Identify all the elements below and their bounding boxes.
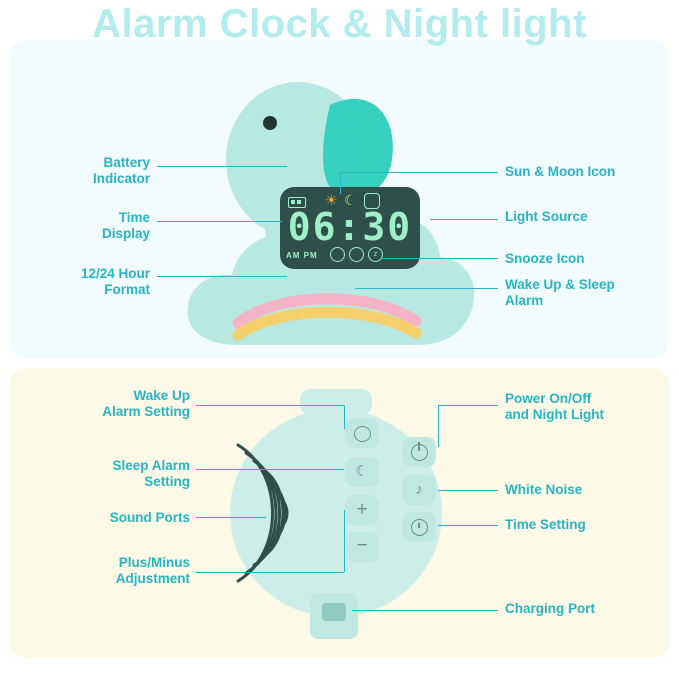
time-value: 06:30 [286,205,414,249]
button-plus[interactable]: + [345,495,379,525]
label-line: Adjustment [60,571,190,587]
button-alarm[interactable] [345,418,379,448]
button-clock[interactable] [402,512,436,542]
leader-sun-moon-icon-drop [340,172,341,194]
label-line: White Noise [505,482,670,498]
label-line: Indicator [40,171,150,187]
leader-plus-minus-adjustment [196,572,344,573]
label-power-night-light: Power On/Off and Night Light [505,391,670,423]
button-music[interactable]: ♪ [402,475,436,505]
label-line: Charging Port [505,601,670,617]
clock-display: ☀ ☾ 06:30 AM PM z [280,187,420,269]
minus-icon: − [345,532,379,562]
leader-battery-indicator [157,166,287,167]
leader-wake-up-alarm-setting [196,405,344,406]
label-hour-format: 12/24 Hour Format [20,266,150,298]
label-line: Power On/Off [505,391,670,407]
label-line: Wake Up & Sleep [505,277,665,293]
leader-sleep-alarm-setting [196,469,344,470]
label-wake-up-alarm-setting: Wake Up Alarm Setting [60,388,190,420]
plus-icon: + [345,495,379,525]
label-line: Light Source [505,209,665,225]
button-minus[interactable]: − [345,532,379,562]
label-line: Setting [60,474,190,490]
label-line: Display [40,226,150,242]
leader-hour-format [157,276,287,277]
label-line: Wake Up [60,388,190,404]
leader-sun-moon-icon [340,172,498,173]
label-line: Sleep Alarm [60,458,190,474]
music-note-icon: ♪ [402,475,436,505]
leader-wake-up-alarm-setting-drop [344,405,345,429]
leader-power-night-light-drop [438,405,439,447]
label-light-source: Light Source [505,209,665,225]
power-icon-stem [418,442,420,451]
moon-small-icon [349,247,364,262]
label-line: Battery [40,155,150,171]
leader-plus-minus-adjustment-rise [344,510,345,572]
leader-snooze-icon [380,258,498,259]
label-white-noise: White Noise [505,482,670,498]
leader-time-setting [438,525,498,526]
bell-icon [330,247,345,262]
label-sleep-alarm-setting: Sleep Alarm Setting [60,458,190,490]
label-charging-port: Charging Port [505,601,670,617]
moon-icon: ☾ [345,457,379,487]
label-line: Time Setting [505,517,670,533]
leader-charging-port [352,610,498,611]
zzz-icon: z [368,247,383,262]
label-wake-sleep-alarm: Wake Up & Sleep Alarm [505,277,665,309]
button-power[interactable] [402,437,436,467]
label-plus-minus-adjustment: Plus/Minus Adjustment [60,555,190,587]
label-line: Time [40,210,150,226]
label-line: Snooze Icon [505,251,665,267]
label-sound-ports: Sound Ports [60,510,190,526]
label-line: Sound Ports [60,510,190,526]
am-pm-indicator: AM PM [286,251,318,260]
button-moon[interactable]: ☾ [345,457,379,487]
alarm-clock-icon [354,426,371,442]
label-line: 12/24 Hour [20,266,150,282]
label-line: Sun & Moon Icon [505,164,665,180]
leader-sound-ports [196,517,266,518]
label-line: Format [20,282,150,298]
page-title: Alarm Clock & Night light [0,2,679,47]
label-line: Alarm Setting [60,404,190,420]
label-time-setting: Time Setting [505,517,670,533]
label-line: and Night Light [505,407,670,423]
label-snooze-icon: Snooze Icon [505,251,665,267]
leader-light-source [430,219,498,220]
label-line: Alarm [505,293,665,309]
leader-time-display [157,221,282,222]
leader-power-night-light [438,405,498,406]
clock-icon-hand [418,523,420,528]
label-battery-indicator: Battery Indicator [40,155,150,187]
leader-wake-sleep-alarm [355,288,498,289]
label-time-display: Time Display [40,210,150,242]
leader-white-noise [438,490,498,491]
label-line: Plus/Minus [60,555,190,571]
label-sun-moon-icon: Sun & Moon Icon [505,164,665,180]
